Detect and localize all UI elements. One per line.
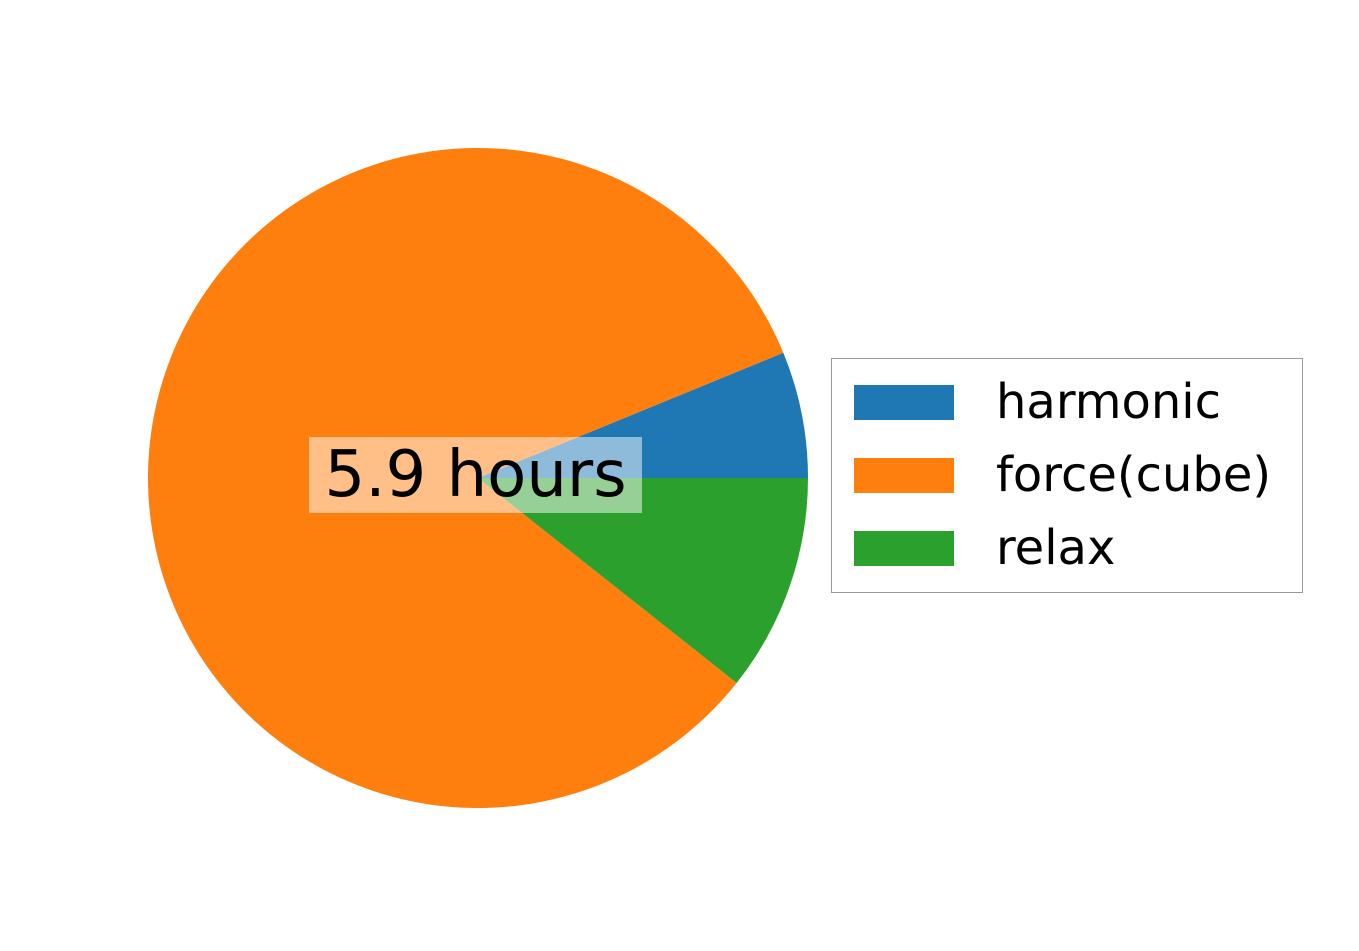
legend-swatch-harmonic <box>854 385 954 420</box>
legend-label-harmonic: harmonic <box>996 378 1221 426</box>
legend-entry-list: harmonic force(cube) relax <box>854 374 1284 579</box>
legend-entry-force-cube[interactable]: force(cube) <box>854 454 1284 496</box>
legend-swatch-relax <box>854 531 954 566</box>
legend-label-force-cube: force(cube) <box>996 451 1271 499</box>
legend-swatch-force-cube <box>854 458 954 493</box>
matplotlib-figure: 5.9 hours harmonic force(cube) relax <box>0 0 1359 951</box>
legend-label-relax: relax <box>996 524 1115 572</box>
pie-center-value-label: 5.9 hours <box>309 437 642 513</box>
legend-entry-relax[interactable]: relax <box>854 527 1284 569</box>
chart-legend: harmonic force(cube) relax <box>831 358 1303 593</box>
legend-entry-harmonic[interactable]: harmonic <box>854 381 1284 423</box>
